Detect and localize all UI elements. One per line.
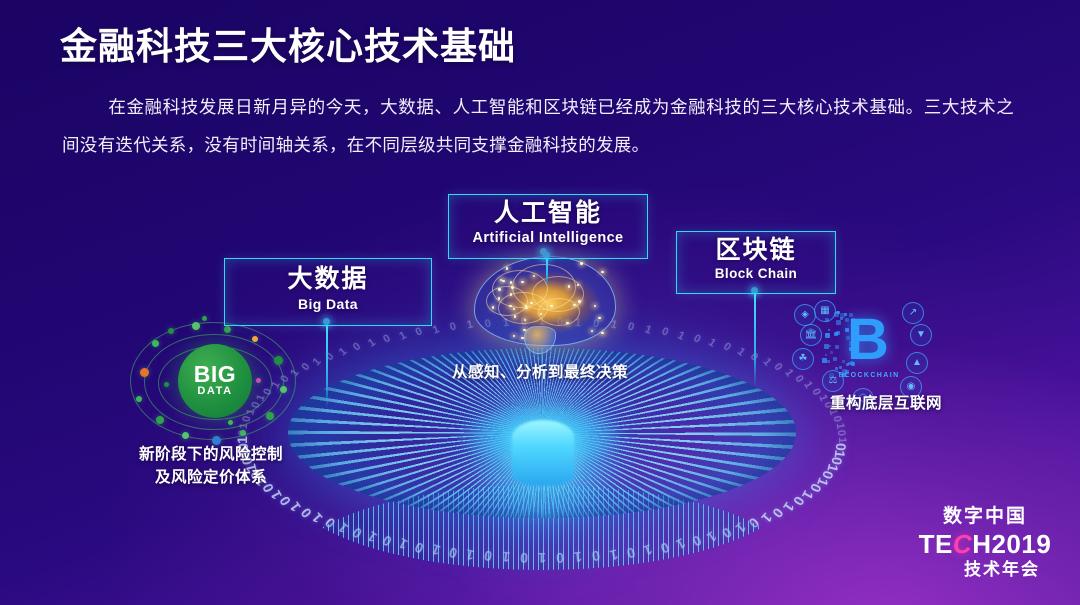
page-title: 金融科技三大核心技术基础 [60, 16, 516, 70]
blockchain-pixel [849, 313, 853, 317]
neuron-spark [509, 305, 511, 307]
neuron-spark [510, 281, 512, 283]
neuron-spark [578, 300, 580, 302]
neuron-spark [568, 285, 570, 287]
logo-line-annual-conference: 技术年会 [939, 559, 1065, 581]
label-card-block-chain[interactable]: 区块链 Block Chain [676, 231, 836, 294]
big-data-node [136, 396, 142, 402]
neuron-spark [566, 322, 568, 324]
big-data-orb-primary: BIG [194, 364, 236, 385]
blockchain-pixel [842, 360, 845, 363]
big-data-graphic: BIG DATA [128, 316, 298, 444]
blockchain-pixel [825, 354, 827, 356]
blockchain-satellite-icon: ◈ [794, 304, 816, 326]
neuron-spark [511, 286, 513, 288]
blockchain-pixel [822, 358, 827, 363]
label-card-blockchain-zh: 区块链 [677, 235, 835, 265]
connector-line-ai [546, 256, 548, 286]
core-pillar [512, 420, 574, 486]
blockchain-graphic: B BLOCKCHAIN ◈▦↗▼▲⚖☘🏛◉⬡ [792, 302, 944, 406]
neuron-spark [601, 271, 603, 273]
blockchain-pixel [852, 337, 857, 342]
brain-fold [538, 298, 580, 326]
brain-icon [468, 252, 620, 354]
blockchain-pixel [849, 341, 854, 346]
big-data-node [182, 432, 189, 439]
big-data-node [152, 340, 159, 347]
logo-tech-2019: TECH2019 [919, 529, 1052, 559]
big-data-orb-secondary: DATA [197, 385, 232, 398]
big-data-node [156, 416, 164, 424]
big-data-node [256, 378, 261, 383]
brain-stem [524, 326, 556, 354]
big-data-node [202, 316, 207, 321]
neuron-spark [601, 332, 603, 334]
blockchain-pixel [836, 331, 840, 335]
neuron-spark [510, 293, 512, 295]
caption-block-chain: 重构底层互联网 [796, 393, 976, 415]
big-data-node [140, 368, 149, 377]
caption-artificial-intelligence: 从感知、分析到最终决策 [430, 362, 650, 384]
intro-paragraph: 在金融科技发展日新月异的今天，大数据、人工智能和区块链已经成为金融科技的三大核心… [62, 88, 1014, 164]
big-data-node [168, 328, 174, 334]
blockchain-satellite-icon: ⚖ [822, 370, 844, 392]
big-data-node [224, 326, 231, 333]
blockchain-satellite-icon: ▲ [906, 352, 928, 374]
blockchain-pixel [844, 313, 847, 316]
blockchain-pixel [835, 345, 839, 349]
neuron-spark [550, 305, 552, 307]
blockchain-pixel [848, 362, 851, 365]
connector-line-blockchain [754, 291, 756, 387]
big-data-node [252, 336, 258, 342]
neuron-spark [498, 288, 500, 290]
label-card-ai-zh: 人工智能 [449, 198, 647, 229]
big-data-node [164, 382, 169, 387]
neuron-spark [521, 281, 523, 283]
blockchain-pixel [849, 347, 853, 351]
logo-tech-left: TE [919, 529, 953, 559]
blockchain-pixel [825, 333, 830, 338]
neuron-spark [523, 329, 525, 331]
blockchain-satellite-icon: ☘ [792, 348, 814, 370]
blockchain-pixel [845, 318, 849, 322]
neuron-spark [514, 315, 516, 317]
neuron-spark [492, 306, 494, 308]
blockchain-pixel [829, 345, 831, 347]
blockchain-satellite-icon: ▼ [910, 324, 932, 346]
blockchain-satellite-icon: ↗ [902, 302, 924, 324]
blockchain-pixel [846, 336, 850, 340]
connector-line-big-data [326, 322, 328, 408]
label-card-big-data-en: Big Data [225, 295, 431, 314]
caption-big-data-line1: 新阶段下的风险控制 [108, 443, 314, 466]
blockchain-satellite-icon: ▦ [814, 300, 836, 322]
big-data-node [274, 356, 283, 365]
big-data-node [280, 386, 287, 393]
big-data-node [240, 430, 246, 436]
blockchain-pixel [837, 311, 840, 314]
big-data-node [266, 412, 274, 420]
label-card-ai-en: Artificial Intelligence [449, 229, 647, 248]
paragraph-text: 在金融科技发展日新月异的今天，大数据、人工智能和区块链已经成为金融科技的三大核心… [62, 97, 1014, 155]
blockchain-pixel [830, 351, 833, 354]
big-data-node [192, 322, 200, 330]
blockchain-pixel [828, 329, 830, 331]
blockchain-pixel [836, 320, 841, 325]
neuron-spark [521, 337, 523, 339]
label-card-big-data[interactable]: 大数据 Big Data [224, 258, 432, 326]
blockchain-satellite-icon: 🏛 [800, 324, 822, 346]
logo-line-digital-china: 数字中国 [905, 505, 1065, 529]
slide-root: 金融科技三大核心技术基础 在金融科技发展日新月异的今天，大数据、人工智能和区块链… [0, 0, 1080, 605]
caption-big-data-line2: 及风险定价体系 [108, 466, 314, 489]
caption-big-data: 新阶段下的风险控制 及风险定价体系 [108, 443, 314, 489]
neuron-spark [598, 317, 600, 319]
event-logo: 数字中国 TECH2019 技术年会 [905, 505, 1065, 597]
big-data-orb: BIG DATA [178, 344, 252, 418]
label-card-artificial-intelligence[interactable]: 人工智能 Artificial Intelligence [448, 194, 648, 259]
blockchain-pixel [845, 328, 849, 332]
label-card-blockchain-en: Block Chain [677, 265, 835, 283]
logo-tech-c: C [953, 529, 972, 559]
blockchain-pixel [851, 362, 855, 366]
blockchain-pixel [833, 357, 837, 361]
blockchain-pixel [853, 350, 858, 355]
blockchain-pixel [842, 369, 847, 374]
big-data-node [228, 420, 233, 425]
logo-tech-right: H2019 [972, 529, 1051, 559]
brain-fold [486, 286, 528, 316]
label-card-big-data-zh: 大数据 [225, 263, 431, 295]
neuron-spark [580, 262, 582, 264]
